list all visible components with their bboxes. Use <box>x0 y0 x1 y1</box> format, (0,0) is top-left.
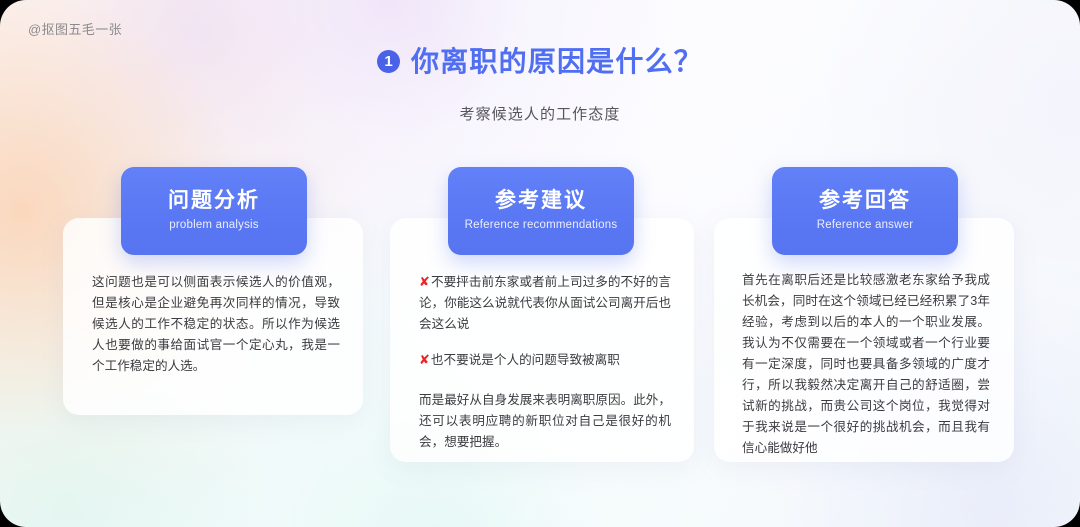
card-header-problem-analysis: 问题分析 problem analysis <box>121 167 307 255</box>
paragraph-text: 首先在离职后还是比较感激老东家给予我成长机会，同时在这个领域已经已经积累了3年经… <box>742 273 990 455</box>
slide-canvas: @抠图五毛一张 1 你离职的原因是什么？ 考察候选人的工作态度 问题分析 pro… <box>0 0 1080 527</box>
card-title-en: problem analysis <box>121 219 307 231</box>
card-title-en: Reference recommendations <box>448 219 634 231</box>
card-title-en: Reference answer <box>772 219 958 231</box>
paragraph: ✘也不要说是个人的问题导致被离职 <box>419 349 671 371</box>
paragraph: 这问题也是可以侧面表示候选人的价值观，但是核心是企业避免再次同样的情况，导致候选… <box>92 272 340 377</box>
paragraph: 首先在离职后还是比较感激老东家给予我成长机会，同时在这个领域已经已经积累了3年经… <box>742 270 990 459</box>
cross-mark-icon: ✘ <box>419 352 430 367</box>
paragraph-text: 也不要说是个人的问题导致被离职 <box>431 353 620 367</box>
card-title-cn: 参考回答 <box>772 189 958 212</box>
cross-mark-icon: ✘ <box>419 274 430 289</box>
watermark-label: @抠图五毛一张 <box>28 19 122 38</box>
paragraph-text: 不要抨击前东家或者前上司过多的不好的言论，你能这么说就代表你从面试公司离开后也会… <box>419 275 671 331</box>
paragraph: ✘不要抨击前东家或者前上司过多的不好的言论，你能这么说就代表你从面试公司离开后也… <box>419 271 671 335</box>
card-body-reference-answer: 首先在离职后还是比较感激老东家给予我成长机会，同时在这个领域已经已经积累了3年经… <box>742 270 990 459</box>
paragraph: 而是最好从自身发展来表明离职原因。此外，还可以表明应聘的新职位对自己是很好的机会… <box>419 390 671 453</box>
card-title-cn: 问题分析 <box>121 189 307 212</box>
paragraph-text: 而是最好从自身发展来表明离职原因。此外，还可以表明应聘的新职位对自己是很好的机会… <box>419 393 671 449</box>
card-title-cn: 参考建议 <box>448 189 634 212</box>
page-title: 你离职的原因是什么？ <box>411 40 703 80</box>
title-row: 1 你离职的原因是什么？ <box>0 40 1080 80</box>
question-number-badge: 1 <box>377 50 400 73</box>
card-body-problem-analysis: 这问题也是可以侧面表示候选人的价值观，但是核心是企业避免再次同样的情况，导致候选… <box>92 272 340 377</box>
card-header-reference-answer: 参考回答 Reference answer <box>772 167 958 255</box>
slide-header: 1 你离职的原因是什么？ 考察候选人的工作态度 <box>0 40 1080 124</box>
card-header-reference-recommendations: 参考建议 Reference recommendations <box>448 167 634 255</box>
paragraph-text: 这问题也是可以侧面表示候选人的价值观，但是核心是企业避免再次同样的情况，导致候选… <box>92 275 340 373</box>
page-subtitle: 考察候选人的工作态度 <box>0 103 1080 124</box>
card-body-reference-recommendations: ✘不要抨击前东家或者前上司过多的不好的言论，你能这么说就代表你从面试公司离开后也… <box>419 271 671 453</box>
